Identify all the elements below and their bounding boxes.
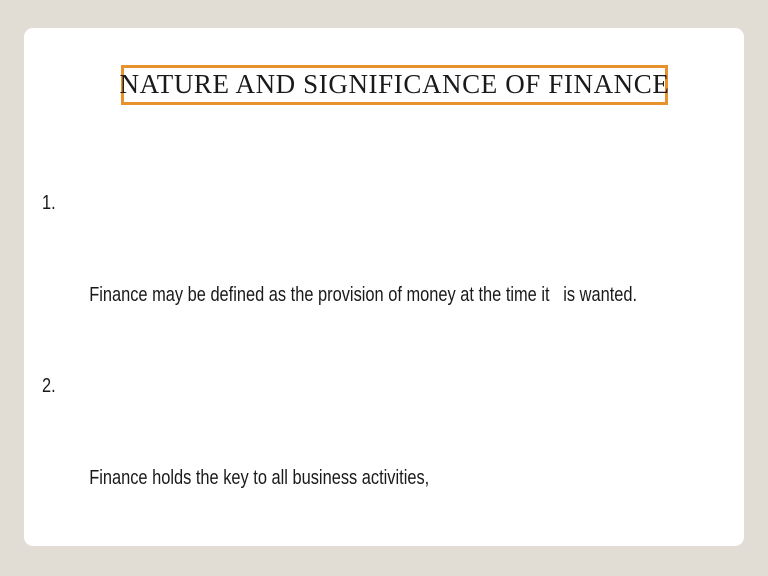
list-item-marker: 2.: [42, 371, 90, 402]
slide-card: NATURE AND SIGNIFICANCE OF FINANCE 1. Fi…: [24, 28, 744, 546]
list-item-text: Finance may be defined as the provision …: [89, 280, 744, 311]
page-title: NATURE AND SIGNIFICANCE OF FINANCE: [120, 71, 670, 100]
list-item: 1. Finance may be defined as the provisi…: [24, 188, 744, 371]
slide-title-box: NATURE AND SIGNIFICANCE OF FINANCE: [121, 65, 668, 105]
slide-root: NATURE AND SIGNIFICANCE OF FINANCE 1. Fi…: [0, 0, 768, 576]
list-item: 2. Finance holds the key to all business…: [24, 371, 744, 546]
list-item-marker: 1.: [42, 188, 90, 219]
content-list: 1. Finance may be defined as the provisi…: [24, 188, 744, 546]
list-item-text: Finance holds the key to all business ac…: [89, 463, 744, 494]
